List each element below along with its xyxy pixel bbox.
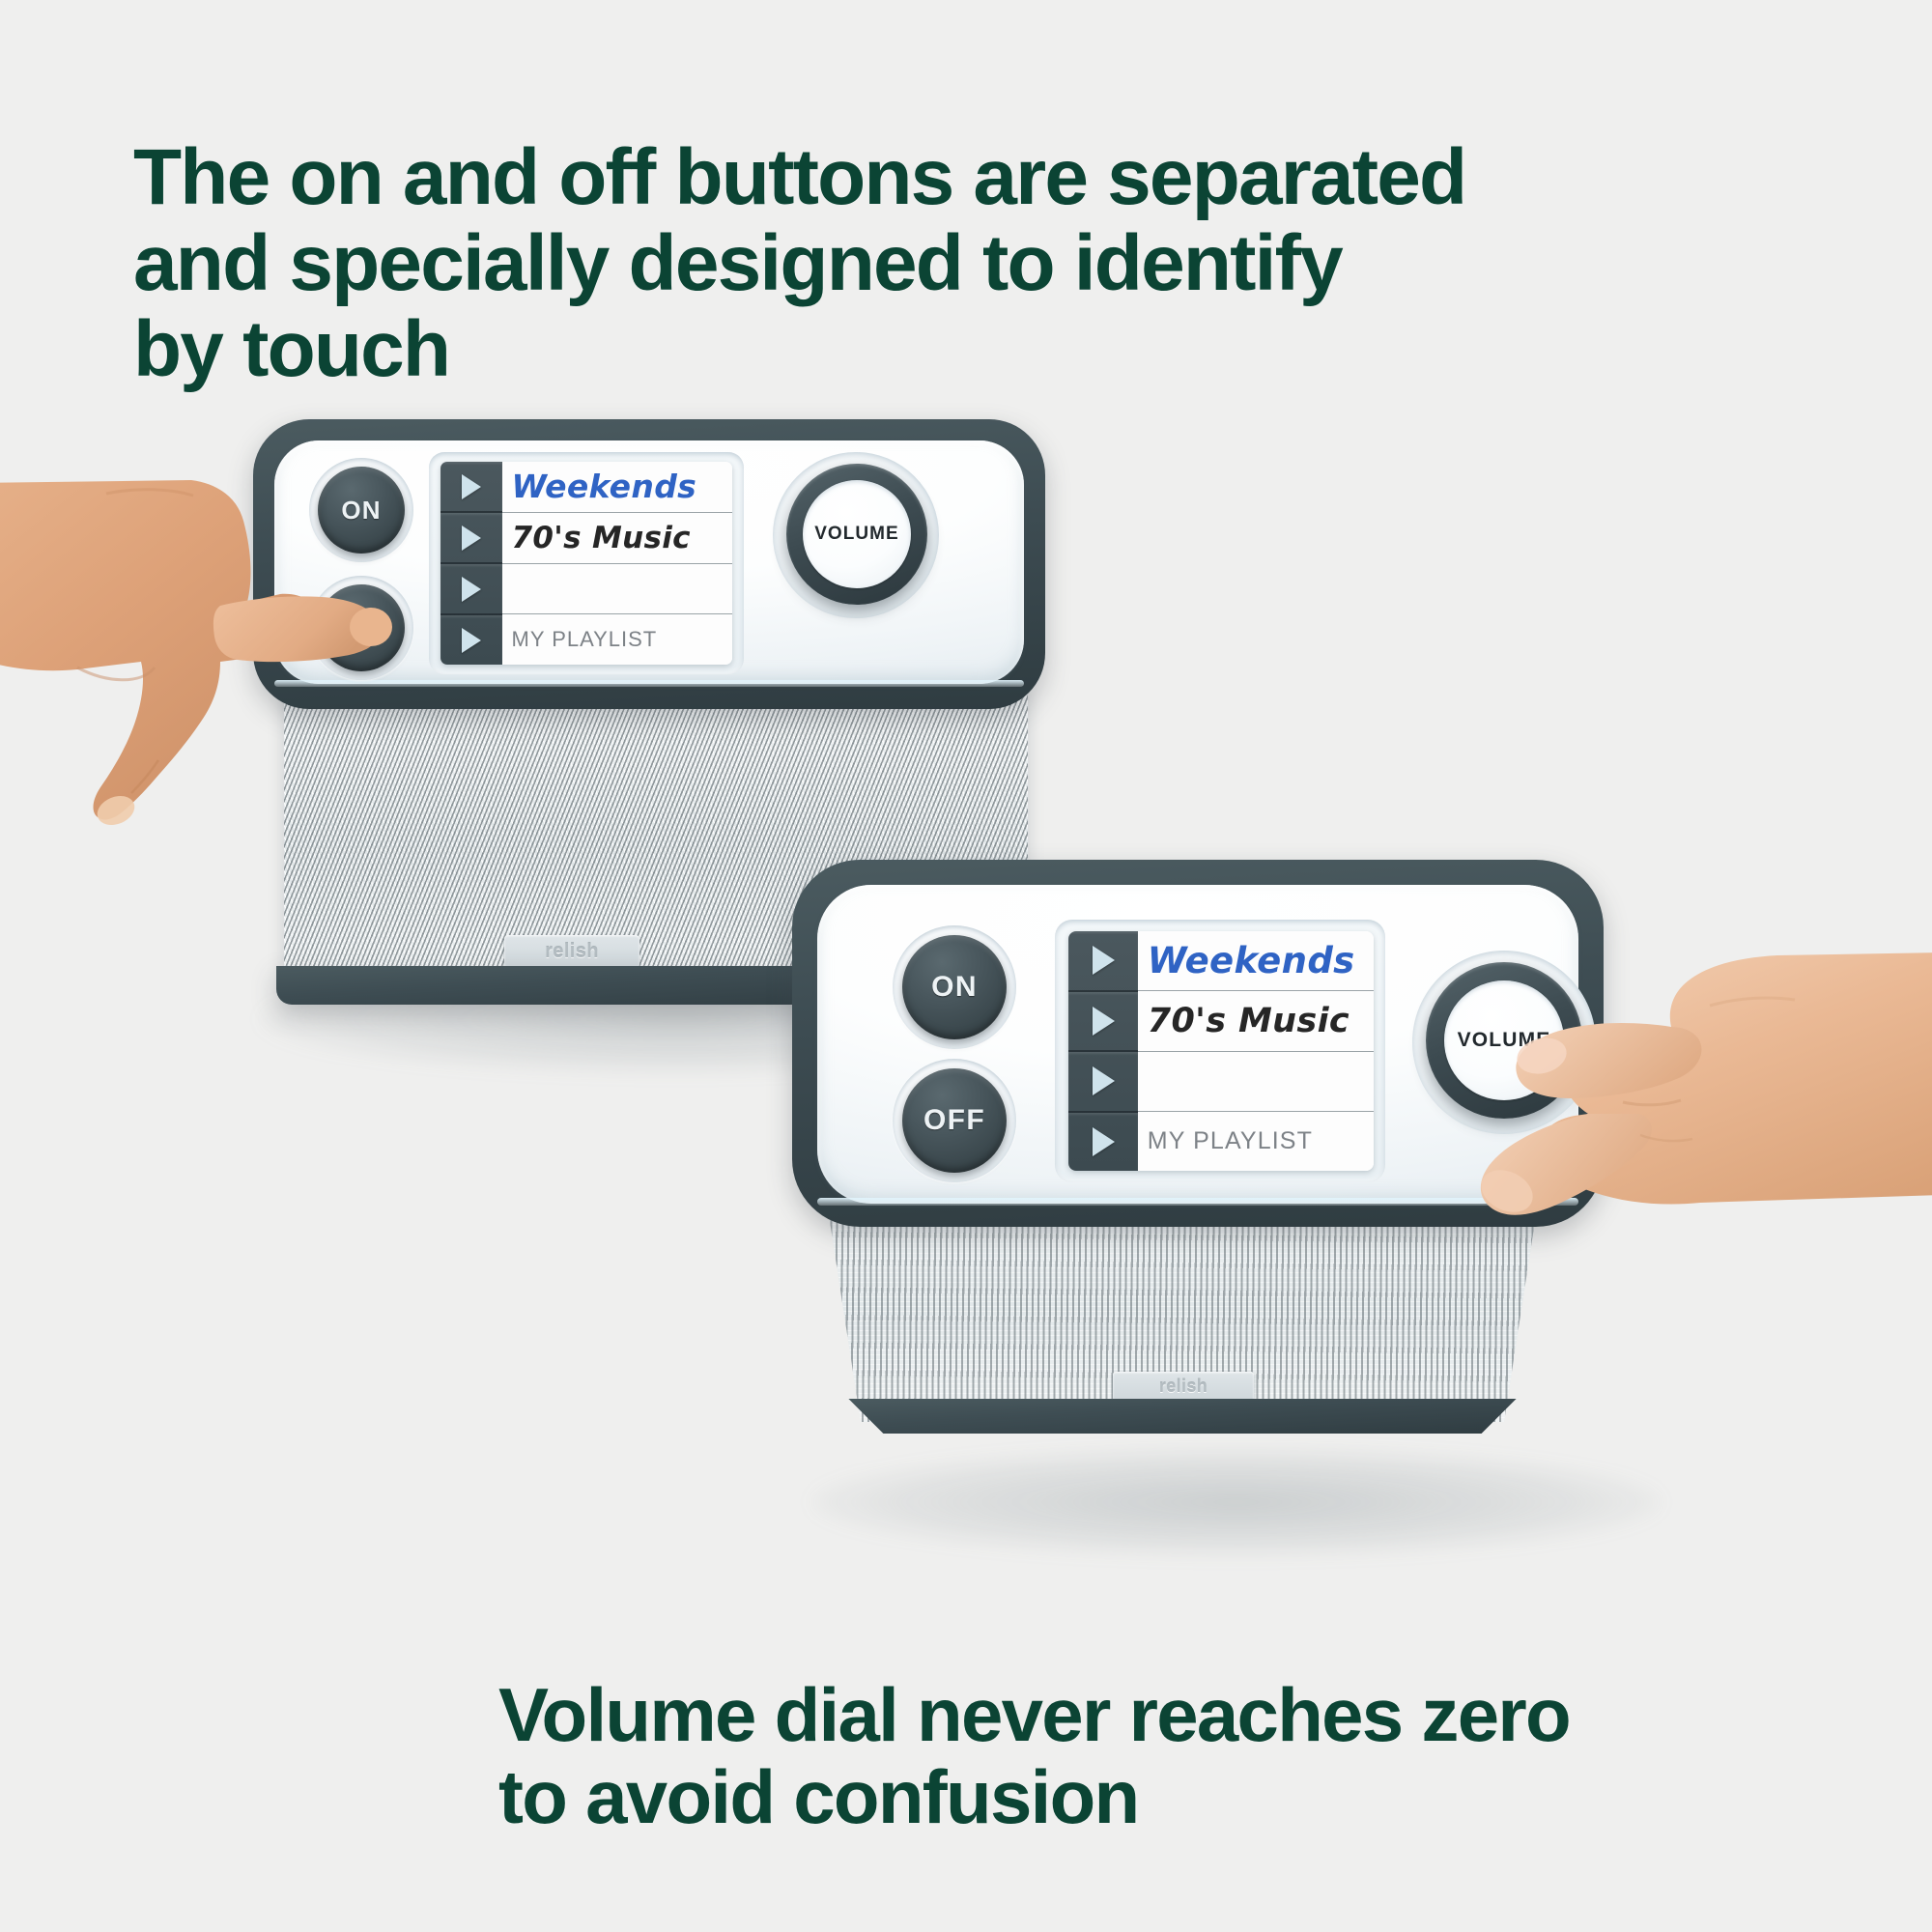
pointing-hand	[0, 478, 406, 845]
playlist-row[interactable]: 70's Music	[502, 512, 732, 563]
playlist-printed-label: MY PLAYLIST	[1148, 1127, 1313, 1155]
play-icon	[1093, 946, 1115, 975]
play-button-1[interactable]	[440, 462, 502, 511]
play-button-1[interactable]	[1068, 931, 1138, 990]
playlist-row[interactable]: MY PLAYLIST	[502, 613, 732, 665]
device-foot	[835, 1399, 1530, 1434]
playlist-card: Weekends 70's Music MY PLAYLIST	[440, 462, 732, 665]
playlist-row[interactable]: Weekends	[502, 462, 732, 512]
playlist-card: Weekends 70's Music MY PLAYLIST	[1068, 931, 1374, 1171]
play-button-4[interactable]	[440, 613, 502, 665]
gripping-hand	[1381, 913, 1932, 1319]
playlist-entry-1: Weekends	[1148, 940, 1355, 981]
playlist-row[interactable]: Weekends	[1138, 931, 1374, 990]
playlist-row[interactable]: 70's Music	[1138, 990, 1374, 1050]
on-button[interactable]: ON	[902, 935, 1007, 1039]
volume-knob-face: VOLUME	[803, 480, 911, 588]
play-icon	[462, 526, 481, 551]
play-icon	[1093, 1066, 1115, 1095]
playlist-entry-1: Weekends	[512, 468, 697, 505]
play-button-3[interactable]	[1068, 1050, 1138, 1111]
brand-badge: relish	[504, 935, 639, 968]
play-button-2[interactable]	[1068, 990, 1138, 1051]
caption-top: The on and off buttons are separated and…	[133, 135, 1465, 393]
play-button-column	[1068, 931, 1138, 1171]
volume-knob[interactable]: VOLUME	[786, 464, 927, 605]
off-button[interactable]: OFF	[902, 1068, 1007, 1173]
playlist-rows: Weekends 70's Music MY PLAYLIST	[1138, 931, 1374, 1171]
playlist-row[interactable]	[1138, 1051, 1374, 1111]
playlist-row[interactable]	[502, 563, 732, 614]
playlist-entry-2: 70's Music	[1148, 1002, 1350, 1040]
play-button-3[interactable]	[440, 562, 502, 613]
device-shadow	[811, 1449, 1662, 1555]
playlist-rows: Weekends 70's Music MY PLAYLIST	[502, 462, 732, 665]
play-icon	[1093, 1127, 1115, 1156]
play-icon	[462, 474, 481, 499]
play-button-2[interactable]	[440, 511, 502, 562]
play-button-column	[440, 462, 502, 665]
play-icon	[462, 577, 481, 602]
playlist-entry-2: 70's Music	[512, 521, 691, 555]
playlist-printed-label: MY PLAYLIST	[512, 627, 658, 652]
playlist-row[interactable]: MY PLAYLIST	[1138, 1111, 1374, 1171]
play-button-4[interactable]	[1068, 1111, 1138, 1172]
caption-bottom: Volume dial never reaches zero to avoid …	[498, 1674, 1570, 1837]
product-feature-graphic: The on and off buttons are separated and…	[0, 0, 1932, 1932]
play-icon	[1093, 1007, 1115, 1036]
brand-badge: relish	[1113, 1372, 1254, 1401]
play-icon	[462, 628, 481, 653]
